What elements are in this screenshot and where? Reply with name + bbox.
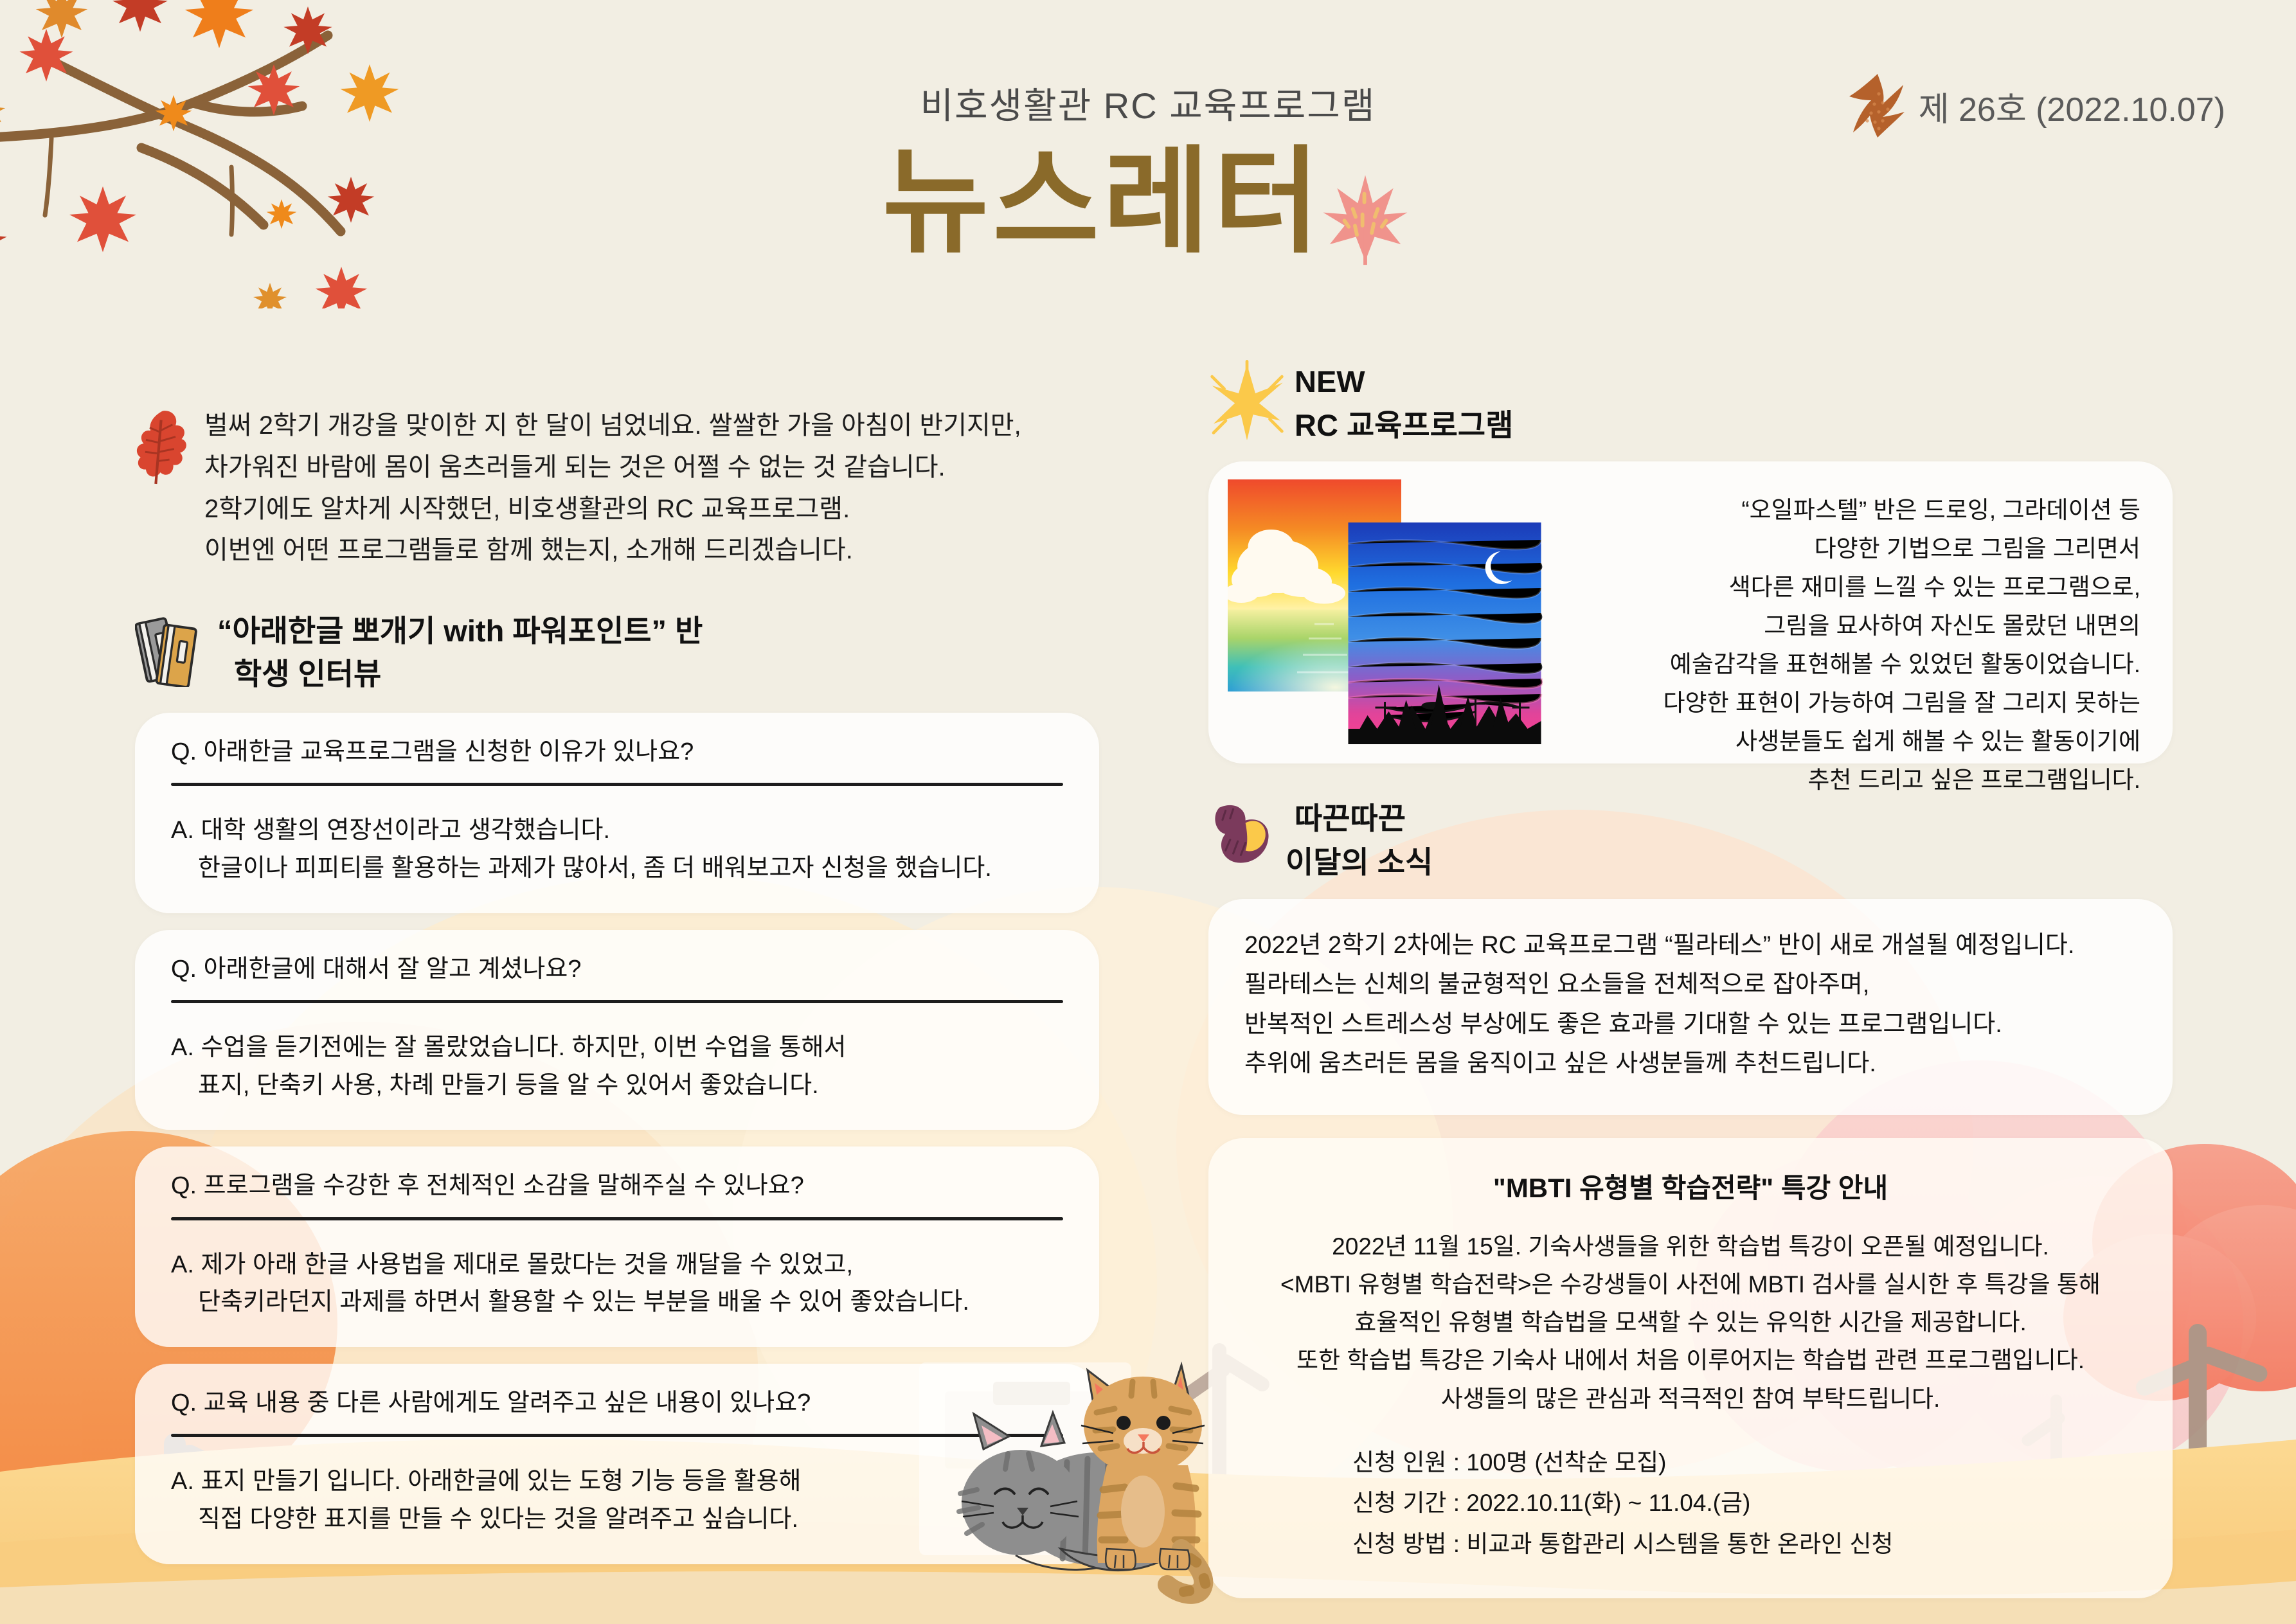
mbti-line: 효율적인 유형별 학습법을 모색할 수 있는 유익한 시간을 제공합니다. bbox=[1244, 1303, 2137, 1341]
new-program-heading: NEW RC 교육프로그램 bbox=[1208, 360, 2173, 447]
news-line: 2022년 2학기 2차에는 RC 교육프로그램 “필라테스” 반이 새로 개설… bbox=[1244, 926, 2137, 966]
interview-heading-text: “아래한글 뽀개기 with 파워포인트” 반 학생 인터뷰 bbox=[217, 610, 703, 695]
intro-text: 벌써 2학기 개강을 맞이한 지 한 달이 넘었네요. 쌀쌀한 가을 아침이 반… bbox=[204, 405, 1021, 571]
qa-answer: A. 표지 만들기 입니다. 아래한글에 있는 도형 기능 등을 활용해 직접 … bbox=[171, 1463, 1063, 1539]
issue-number: 제 26호 (2022.10.07) bbox=[1919, 82, 2225, 130]
intro-line: 차가워진 바람에 몸이 움츠러들게 되는 것은 어쩔 수 없는 것 같습니다. bbox=[204, 447, 1021, 488]
mbti-line: 사생들의 많은 관심과 적극적인 참여 부탁드립니다. bbox=[1244, 1380, 2137, 1418]
qa-divider bbox=[171, 1434, 1063, 1437]
mbti-apply-method: 신청 방법 : 비교과 통합관리 시스템을 통한 온라인 신청 bbox=[1352, 1524, 2137, 1565]
qa-divider bbox=[171, 1000, 1063, 1003]
mbti-apply-capacity: 신청 인원 : 100명 (선착순 모집) bbox=[1352, 1442, 2137, 1483]
qa-answer-line1: A. 표지 만들기 입니다. 아래한글에 있는 도형 기능 등을 활용해 bbox=[171, 1468, 802, 1495]
mbti-apply-period: 신청 기간 : 2022.10.11(화) ~ 11.04.(금) bbox=[1352, 1483, 2137, 1524]
qa-question: Q. 아래한글 교육프로그램을 신청한 이유가 있나요? bbox=[171, 735, 1063, 770]
mbti-application-details: 신청 인원 : 100명 (선착순 모집) 신청 기간 : 2022.10.11… bbox=[1244, 1442, 2137, 1565]
new-program-heading-text: NEW RC 교육프로그램 bbox=[1295, 360, 1513, 447]
qa-question: Q. 교육 내용 중 다른 사람에게도 알려주고 싶은 내용이 있나요? bbox=[171, 1386, 1063, 1421]
mbti-lecture-card: "MBTI 유형별 학습전략" 특강 안내 2022년 11월 15일. 기숙사… bbox=[1208, 1138, 2173, 1598]
qa-answer-line2: 단축키라던지 과제를 하면서 활용할 수 있는 부분을 배울 수 있어 좋았습니… bbox=[171, 1283, 1063, 1321]
pastel-line: 추천 드리고 싶은 프로그램입니다. bbox=[1581, 761, 2140, 799]
qa-answer-line2: 직접 다양한 표지를 만들 수 있다는 것을 알려주고 싶습니다. bbox=[171, 1501, 1063, 1539]
sweet-potato-icon bbox=[1208, 797, 1286, 877]
news-line: 필라테스는 신체의 불균형적인 요소들을 전체적으로 잡아주며, bbox=[1244, 965, 2137, 1005]
intro-line: 2학기에도 알차게 시작했던, 비호생활관의 RC 교육프로그램. bbox=[204, 488, 1021, 530]
new-program-heading-line1: NEW bbox=[1295, 360, 1513, 404]
pastel-line: “오일파스텔” 반은 드로잉, 그라데이션 등 bbox=[1581, 491, 2140, 530]
maple-leaf-icon bbox=[1317, 164, 1413, 267]
qa-answer: A. 수업을 듣기전에는 잘 몰랐었습니다. 하지만, 이번 수업을 통해서 표… bbox=[171, 1029, 1063, 1105]
interview-heading-line1: “아래한글 뽀개기 with 파워포인트” 반 bbox=[217, 610, 703, 653]
pastel-line: 예술감각을 표현해볼 수 있었던 활동이었습니다. bbox=[1581, 645, 2140, 684]
newsletter-header: 비호생활관 RC 교육프로그램 뉴스레터 bbox=[0, 0, 2296, 334]
monthly-news-heading-line2: 이달의 소식 bbox=[1286, 841, 1433, 884]
qa-answer-line1: A. 수업을 듣기전에는 잘 몰랐었습니다. 하지만, 이번 수업을 통해서 bbox=[171, 1034, 846, 1061]
oil-pastel-night-sky-artwork bbox=[1347, 522, 1543, 744]
intro-line: 벌써 2학기 개강을 맞이한 지 한 달이 넘었네요. 쌀쌀한 가을 아침이 반… bbox=[204, 405, 1021, 447]
intro-line: 이번엔 어떤 프로그램들로 함께 했는지, 소개해 드리겠습니다. bbox=[204, 530, 1021, 571]
qa-answer-line1: A. 제가 아래 한글 사용법을 제대로 몰랐다는 것을 깨달을 수 있었고, bbox=[171, 1251, 853, 1278]
qa-answer-line2: 표지, 단축키 사용, 차례 만들기 등을 알 수 있어서 좋았습니다. bbox=[171, 1067, 1063, 1105]
intro-block: 벌써 2학기 개강을 맞이한 지 한 달이 넘었네요. 쌀쌀한 가을 아침이 반… bbox=[135, 405, 1099, 571]
qa-divider bbox=[171, 783, 1063, 786]
pastel-line: 그림을 묘사하여 자신도 몰랐던 내면의 bbox=[1581, 607, 2140, 645]
oak-leaf-icon bbox=[135, 405, 190, 488]
qa-answer: A. 대학 생활의 연장선이라고 생각했습니다. 한글이나 피피티를 활용하는 … bbox=[171, 812, 1063, 888]
qa-card: Q. 아래한글에 대해서 잘 알고 계셨나요? A. 수업을 듣기전에는 잘 몰… bbox=[135, 930, 1099, 1130]
star-burst-icon bbox=[1208, 360, 1286, 443]
qa-divider bbox=[171, 1217, 1063, 1220]
issue-number-block: 제 26호 (2022.10.07) bbox=[1845, 71, 2225, 141]
qa-question: Q. 프로그램을 수강한 후 전체적인 소감을 말해주실 수 있나요? bbox=[171, 1168, 1063, 1204]
qa-answer: A. 제가 아래 한글 사용법을 제대로 몰랐다는 것을 깨달을 수 있었고, … bbox=[171, 1246, 1063, 1322]
new-program-heading-line2: RC 교육프로그램 bbox=[1295, 404, 1513, 447]
mbti-line: 2022년 11월 15일. 기숙사생들을 위한 학습법 특강이 오픈될 예정입… bbox=[1244, 1227, 2137, 1265]
qa-card: Q. 아래한글 교육프로그램을 신청한 이유가 있나요? A. 대학 생활의 연… bbox=[135, 713, 1099, 913]
qa-card: Q. 프로그램을 수강한 후 전체적인 소감을 말해주실 수 있나요? A. 제… bbox=[135, 1147, 1099, 1347]
mbti-line: <MBTI 유형별 학습전략>은 수강생들이 사전에 MBTI 검사를 실시한 … bbox=[1244, 1265, 2137, 1303]
interview-heading-line2: 학생 인터뷰 bbox=[217, 653, 703, 696]
pastel-line: 다양한 기법으로 그림을 그리면서 bbox=[1581, 530, 2140, 568]
right-column: NEW RC 교육프로그램 bbox=[1208, 360, 2173, 1598]
books-icon bbox=[135, 610, 206, 687]
mbti-title: "MBTI 유형별 학습전략" 특강 안내 bbox=[1244, 1166, 2137, 1206]
pastel-line: 색다른 재미를 느낄 수 있는 프로그램으로, bbox=[1581, 568, 2140, 607]
pastel-line: 사생분들도 쉽게 해볼 수 있는 활동이기에 bbox=[1581, 722, 2140, 761]
qa-answer-line1: A. 대학 생활의 연장선이라고 생각했습니다. bbox=[171, 817, 610, 844]
oil-pastel-card: “오일파스텔” 반은 드로잉, 그라데이션 등 다양한 기법으로 그림을 그리면… bbox=[1208, 461, 2173, 763]
qa-question: Q. 아래한글에 대해서 잘 알고 계셨나요? bbox=[171, 952, 1063, 987]
maple-leaf-icon bbox=[1845, 71, 1910, 141]
interview-section-heading: “아래한글 뽀개기 with 파워포인트” 반 학생 인터뷰 bbox=[135, 610, 1099, 695]
monthly-news-heading: 따끈따끈 이달의 소식 bbox=[1208, 797, 2173, 884]
mbti-line: 또한 학습법 특강은 기숙사 내에서 처음 이루어지는 학습법 관련 프로그램입… bbox=[1244, 1341, 2137, 1379]
page-title: 뉴스레터 bbox=[883, 145, 1323, 260]
news-line: 반복적인 스트레스성 부상에도 좋은 효과를 기대할 수 있는 프로그램입니다. bbox=[1244, 1005, 2137, 1045]
qa-answer-line2: 한글이나 피피티를 활용하는 과제가 많아서, 좀 더 배워보고자 신청을 했습… bbox=[171, 850, 1063, 888]
monthly-news-card: 2022년 2학기 2차에는 RC 교육프로그램 “필라테스” 반이 새로 개설… bbox=[1208, 899, 2173, 1115]
oil-pastel-description: “오일파스텔” 반은 드로잉, 그라데이션 등 다양한 기법으로 그림을 그리면… bbox=[1581, 491, 2140, 799]
pastel-line: 다양한 표현이 가능하여 그림을 잘 그리지 못하는 bbox=[1581, 684, 2140, 722]
news-line: 추위에 움츠러든 몸을 움직이고 싶은 사생분들께 추천드립니다. bbox=[1244, 1044, 2137, 1084]
cats-illustration bbox=[938, 1337, 1337, 1607]
monthly-news-heading-text: 따끈따끈 이달의 소식 bbox=[1295, 797, 1433, 884]
monthly-news-heading-line1: 따끈따끈 bbox=[1295, 797, 1433, 841]
